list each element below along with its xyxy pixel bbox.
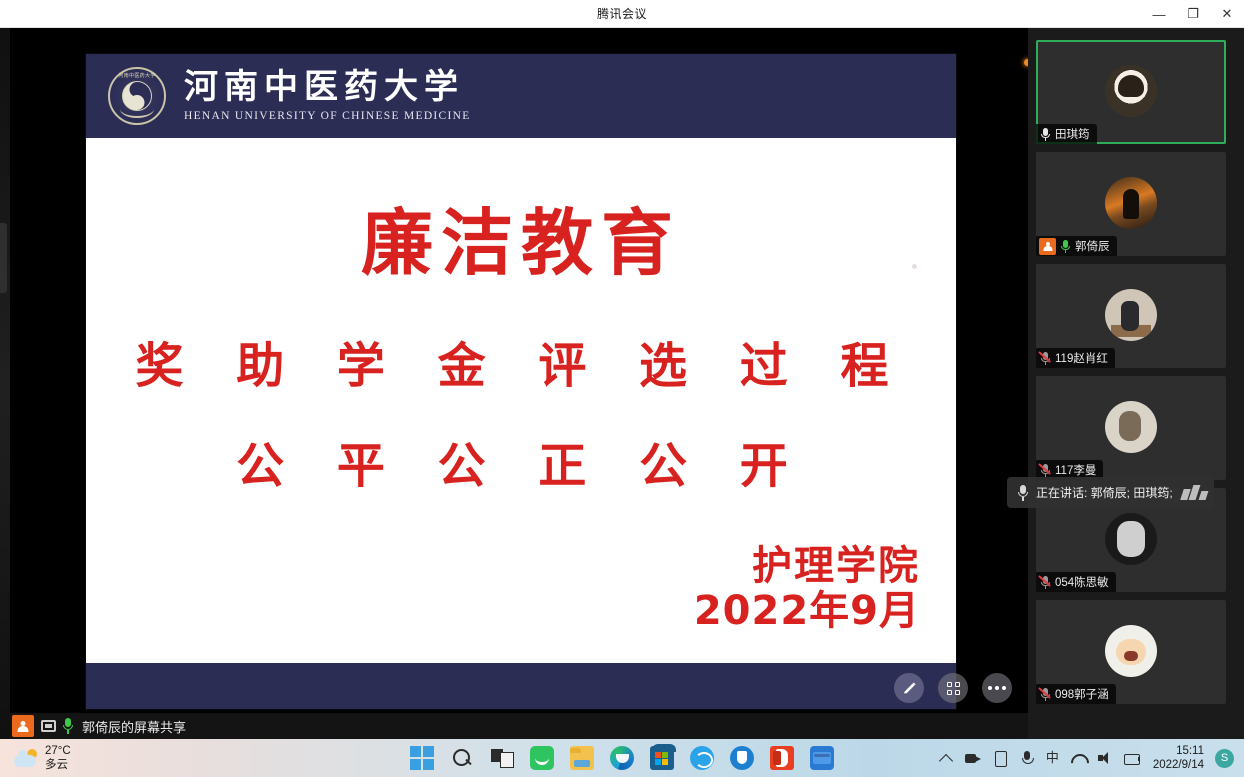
avatar — [1105, 177, 1157, 229]
slide-date: 2022年9月 — [694, 589, 920, 634]
mic-on-icon — [62, 718, 74, 734]
window-title-bar: 腾讯会议 — ❐ ✕ — [0, 0, 1244, 28]
mic-on-icon — [1040, 127, 1051, 142]
weather-widget[interactable]: 27°C 多云 — [14, 744, 71, 773]
mic-muted-icon — [1040, 687, 1051, 702]
share-status-label: 郭倚辰的屏幕共享 — [82, 717, 186, 736]
ime-indicator[interactable]: 中 — [1046, 750, 1059, 766]
battery-icon[interactable] — [1124, 750, 1140, 766]
slide-line-3: 公 平 公 正 公 开 — [86, 426, 956, 496]
window-title: 腾讯会议 — [597, 5, 647, 22]
weather-temperature: 27°C — [45, 744, 71, 758]
weather-text: 27°C 多云 — [45, 744, 71, 773]
window-controls: — ❐ ✕ — [1142, 0, 1244, 28]
wifi-icon[interactable] — [1070, 750, 1086, 766]
more-options-icon[interactable] — [982, 673, 1012, 703]
wechat-icon[interactable] — [530, 746, 554, 770]
avatar — [1105, 289, 1157, 341]
windows-taskbar: 27°C 多云 中 15:11 2022/9/14 S — [0, 739, 1244, 777]
start-icon[interactable] — [410, 746, 434, 770]
participant-name-chip: 098郭子涵 — [1036, 684, 1116, 704]
share-tools — [894, 673, 1012, 703]
avatar — [1105, 65, 1157, 117]
avatar — [1105, 625, 1157, 677]
presentation-slide: 河南中医药大学 河南中医药大学 HENAN UNIVERSITY OF CHIN… — [86, 54, 956, 709]
clock[interactable]: 15:11 2022/9/14 — [1153, 744, 1204, 773]
screen-share-icon — [41, 720, 56, 732]
meeting-window: 河南中医药大学 河南中医药大学 HENAN UNIVERSITY OF CHIN… — [0, 28, 1244, 739]
participant-tile[interactable]: 117李曼 — [1036, 376, 1226, 480]
maximize-button[interactable]: ❐ — [1176, 0, 1210, 28]
layout-grid-icon[interactable] — [938, 673, 968, 703]
left-edge-strip — [0, 28, 10, 739]
participant-name: 098郭子涵 — [1055, 686, 1109, 702]
participant-name: 119赵肖红 — [1055, 350, 1108, 366]
mic-icon — [1017, 485, 1029, 501]
clock-date: 2022/9/14 — [1153, 758, 1204, 772]
participant-name-chip: 田琪筠 — [1036, 124, 1097, 144]
participant-tile[interactable]: 119赵肖红 — [1036, 264, 1226, 368]
slide-footer — [86, 663, 956, 709]
shared-screen-area[interactable]: 河南中医药大学 河南中医药大学 HENAN UNIVERSITY OF CHIN… — [10, 28, 1028, 739]
slide-title: 廉洁教育 — [86, 184, 956, 289]
microphone-tray-icon[interactable] — [1019, 750, 1035, 766]
task-view-icon[interactable] — [490, 746, 514, 770]
university-name-cn: 河南中医药大学 — [184, 70, 471, 106]
slide-department: 护理学院 — [694, 544, 920, 589]
slide-line-2: 奖 助 学 金 评 选 过 程 — [86, 326, 956, 396]
share-status-bar: 郭倚辰的屏幕共享 — [10, 713, 1038, 739]
university-name-en: HENAN UNIVERSITY OF CHINESE MEDICINE — [184, 110, 471, 122]
host-badge-icon — [12, 715, 34, 737]
slide-signature: 护理学院 2022年9月 — [694, 544, 920, 634]
clock-time: 15:11 — [1153, 744, 1204, 758]
file-explorer-icon[interactable] — [570, 746, 594, 770]
participant-name-chip: 郭倚辰 — [1036, 236, 1117, 256]
speaking-indicator-toast: 正在讲话: 郭倚辰; 田琪筠; — [1007, 477, 1214, 508]
participant-name-chip: 054陈思敏 — [1036, 572, 1116, 592]
system-tray: 中 15:11 2022/9/14 S — [938, 744, 1234, 773]
participant-name: 117李曼 — [1055, 462, 1096, 478]
office-icon[interactable] — [770, 746, 794, 770]
participant-tile[interactable]: 098郭子涵 — [1036, 600, 1226, 704]
slide-body: 廉洁教育 奖 助 学 金 评 选 过 程 公 平 公 正 公 开 护理学院 20… — [86, 138, 956, 663]
microsoft-store-icon[interactable] — [650, 746, 674, 770]
close-button[interactable]: ✕ — [1210, 0, 1244, 28]
volume-icon[interactable] — [1097, 750, 1113, 766]
slide-header: 河南中医药大学 河南中医药大学 HENAN UNIVERSITY OF CHIN… — [86, 54, 956, 138]
participant-tile[interactable]: 郭倚辰 — [1036, 152, 1226, 256]
participant-name: 田琪筠 — [1055, 126, 1090, 142]
participant-rail[interactable]: 田琪筠 郭倚辰 119赵肖红 — [1028, 28, 1244, 739]
participant-name: 054陈思敏 — [1055, 574, 1109, 590]
participant-tile[interactable]: 田琪筠 — [1036, 40, 1226, 144]
audio-wave-icon — [1182, 485, 1207, 500]
security-shield-icon[interactable] — [730, 746, 754, 770]
search-icon[interactable] — [450, 746, 474, 770]
cursor-dot-icon — [912, 264, 917, 269]
tencent-meeting-icon[interactable] — [810, 746, 834, 770]
weather-description: 多云 — [45, 758, 71, 772]
edge-icon[interactable] — [610, 746, 634, 770]
avatar — [1105, 513, 1157, 565]
university-logo-icon: 河南中医药大学 — [108, 67, 166, 125]
mic-muted-icon — [1040, 351, 1051, 366]
mic-on-icon — [1060, 239, 1071, 254]
browser-e-icon[interactable] — [690, 746, 714, 770]
participant-name-chip: 119赵肖红 — [1036, 348, 1115, 368]
annotate-pencil-icon[interactable] — [894, 673, 924, 703]
minimize-button[interactable]: — — [1142, 0, 1176, 28]
tray-notification-badge[interactable]: S — [1215, 749, 1234, 768]
university-name-block: 河南中医药大学 HENAN UNIVERSITY OF CHINESE MEDI… — [184, 70, 471, 122]
mic-muted-icon — [1040, 575, 1051, 590]
partly-cloudy-icon — [14, 749, 38, 767]
participant-name: 郭倚辰 — [1075, 238, 1110, 254]
chevron-up-icon[interactable] — [938, 750, 954, 766]
phone-link-icon[interactable] — [992, 750, 1008, 766]
left-edge-handle[interactable] — [0, 223, 7, 293]
speaking-indicator-label: 正在讲话: 郭倚辰; 田琪筠; — [1036, 484, 1173, 501]
mic-muted-icon — [1040, 463, 1051, 478]
taskbar-apps — [410, 746, 834, 770]
avatar — [1105, 401, 1157, 453]
camera-tray-icon[interactable] — [965, 750, 981, 766]
host-badge-icon — [1039, 238, 1056, 255]
